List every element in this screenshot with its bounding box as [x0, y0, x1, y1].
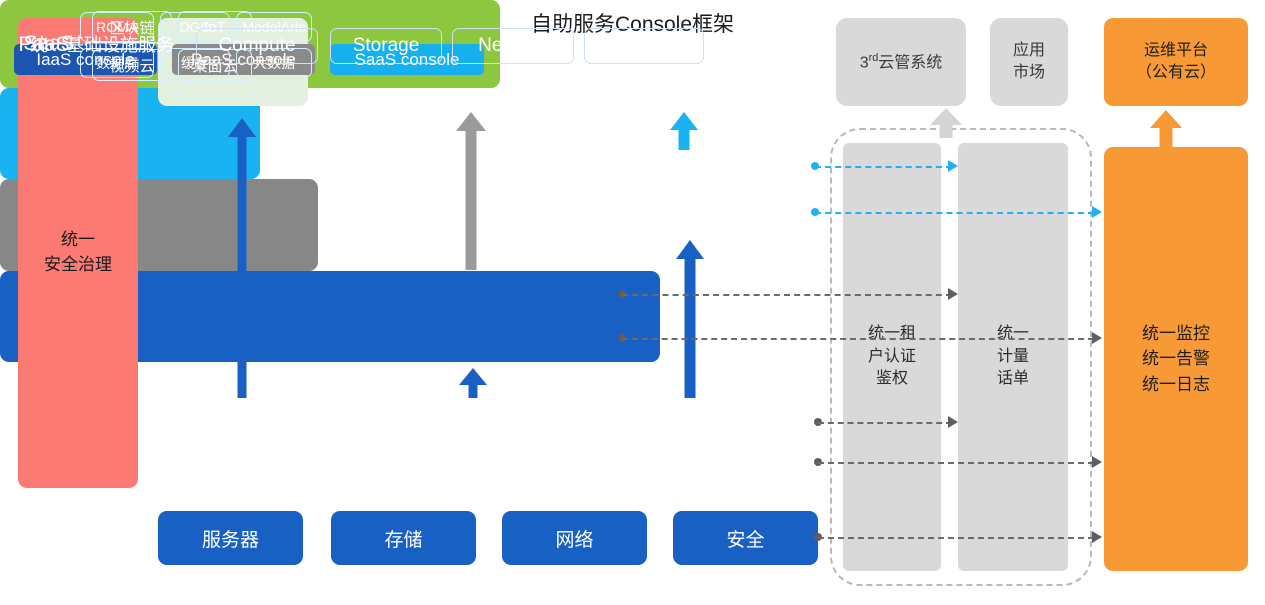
infra-item-storage[interactable]: Storage — [330, 28, 442, 64]
unified-security-governance-pillar: 统一 安全治理 — [18, 18, 138, 488]
arrow-zone-to-third-party — [930, 108, 962, 138]
arrow-infra-to-paas — [459, 368, 487, 398]
arrow-pillar-to-ops-platform — [1150, 110, 1182, 148]
infrastructure-label: 统一基础设施服务 — [14, 31, 190, 57]
third-party-label: 3rd云管系统 — [860, 51, 943, 74]
connector-arrowhead-infra-auth — [948, 416, 958, 428]
connector-arrowhead-paas-ops — [1092, 332, 1102, 344]
app-market-line1: 应用 — [1013, 40, 1045, 62]
connector-arrowhead-hardware-ops — [1092, 531, 1102, 543]
ops-platform-line2: （公有云） — [1136, 62, 1216, 84]
infra-item-compute[interactable]: Compute — [196, 28, 318, 64]
connector-infra-to-auth — [818, 422, 952, 424]
metering-column-line3: 话单 — [997, 368, 1029, 390]
connector-paas-to-ops — [622, 338, 1094, 340]
connector-paas-to-auth — [622, 294, 952, 296]
connector-arrowhead-paas-auth — [948, 288, 958, 300]
connector-saas-to-ops — [815, 212, 1094, 214]
right-pillar-line2: 统一告警 — [1142, 346, 1210, 372]
third-party-cloud-management-box: 3rd云管系统 — [836, 18, 966, 106]
arrow-infra-to-saas — [676, 240, 704, 398]
infra-item-cce[interactable]: CCE — [584, 28, 704, 64]
ops-platform-line1: 运维平台 — [1136, 40, 1216, 62]
arrow-paas-to-console — [456, 112, 486, 270]
infra-item-network[interactable]: Network — [452, 28, 574, 64]
connector-hardware-to-ops — [818, 537, 1094, 539]
hardware-security-box[interactable]: 安全 — [673, 511, 818, 565]
connector-arrowhead-saas-auth — [948, 160, 958, 172]
right-pillar-line3: 统一日志 — [1142, 372, 1210, 398]
hardware-storage-box[interactable]: 存储 — [331, 511, 476, 565]
right-pillar-line1: 统一监控 — [1142, 321, 1210, 347]
hardware-network-box[interactable]: 网络 — [502, 511, 647, 565]
architecture-diagram: 统一 安全治理 API网关 自助服务Console框架 IaaS console… — [0, 0, 1265, 605]
third-party-superscript: rd — [869, 52, 879, 64]
auth-column-line3: 鉴权 — [868, 368, 916, 390]
security-pillar-line1: 统一 — [44, 228, 112, 253]
hardware-server-box[interactable]: 服务器 — [158, 511, 303, 565]
metering-column-line1: 统一 — [997, 323, 1029, 345]
unified-tenant-auth-column: 统一租 户认证 鉴权 — [843, 143, 941, 571]
connector-saas-to-auth — [815, 166, 952, 168]
unified-monitoring-pillar: 统一监控 统一告警 统一日志 — [1104, 147, 1248, 571]
app-market-line2: 市场 — [1013, 62, 1045, 84]
auth-column-line2: 户认证 — [868, 346, 916, 368]
connector-arrowhead-infra-ops — [1092, 456, 1102, 468]
connector-arrowhead-saas-ops — [1092, 206, 1102, 218]
auth-column-line1: 统一租 — [868, 323, 916, 345]
ops-platform-public-cloud-box: 运维平台 （公有云） — [1104, 18, 1248, 106]
metering-column-line2: 计量 — [997, 346, 1029, 368]
unified-metering-billing-column: 统一 计量 话单 — [958, 143, 1068, 571]
connector-infra-to-ops — [818, 462, 1094, 464]
app-market-box: 应用 市场 — [990, 18, 1068, 106]
security-pillar-line2: 安全治理 — [44, 253, 112, 278]
arrow-infra-to-api-gateway — [228, 118, 256, 398]
arrow-saas-to-console — [670, 112, 698, 150]
